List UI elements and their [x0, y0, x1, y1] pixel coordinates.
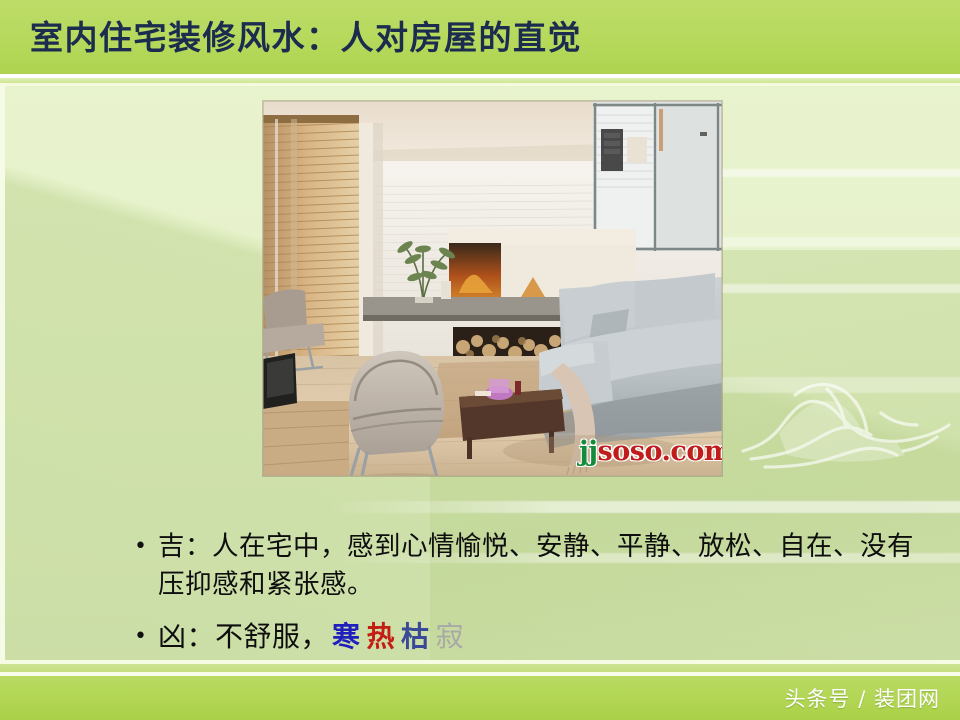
keyword-cold: 寒: [329, 620, 364, 653]
soso-watermark: jjsoso.com: [579, 437, 722, 467]
page-left-edge: [0, 86, 5, 660]
keyword-hot: 热: [364, 620, 399, 653]
bullet-prefix-inauspicious: 凶：不舒服，: [158, 620, 329, 653]
bullet-marker-icon: •: [128, 618, 158, 656]
living-room-photo: jjsoso.com: [263, 101, 722, 476]
bullet-list: • 吉：人在宅中，感到心情愉悦、安静、平静、放松、自在、没有压抑感和紧张感。 •…: [128, 528, 928, 656]
header-divider-secondary: [0, 83, 960, 86]
list-item: • 凶：不舒服，寒热枯寂: [128, 618, 928, 656]
footer-branding: 头条号 / 装团网: [785, 684, 940, 714]
watermark-text: soso.com: [598, 436, 722, 467]
bullet-text-auspicious: 吉：人在宅中，感到心情愉悦、安静、平静、放松、自在、没有压抑感和紧张感。: [158, 528, 928, 604]
presentation-slide: 室内住宅装修风水：人对房屋的直觉: [0, 0, 960, 720]
page-title: 室内住宅装修风水：人对房屋的直觉: [30, 16, 582, 60]
header-divider: [0, 74, 960, 83]
bullet-marker-icon: •: [128, 528, 158, 566]
list-item: • 吉：人在宅中，感到心情愉悦、安静、平静、放松、自在、没有压抑感和紧张感。: [128, 528, 928, 604]
bullet-text-inauspicious: 凶：不舒服，寒热枯寂: [158, 618, 467, 656]
living-room-photo-graphic: [263, 101, 722, 476]
mountain-motif-icon: [735, 355, 955, 490]
footer-divider-accent: [0, 664, 960, 672]
keyword-withered: 枯: [398, 620, 433, 653]
watermark-prefix: jj: [579, 436, 598, 467]
keyword-lonely: 寂: [433, 620, 468, 653]
